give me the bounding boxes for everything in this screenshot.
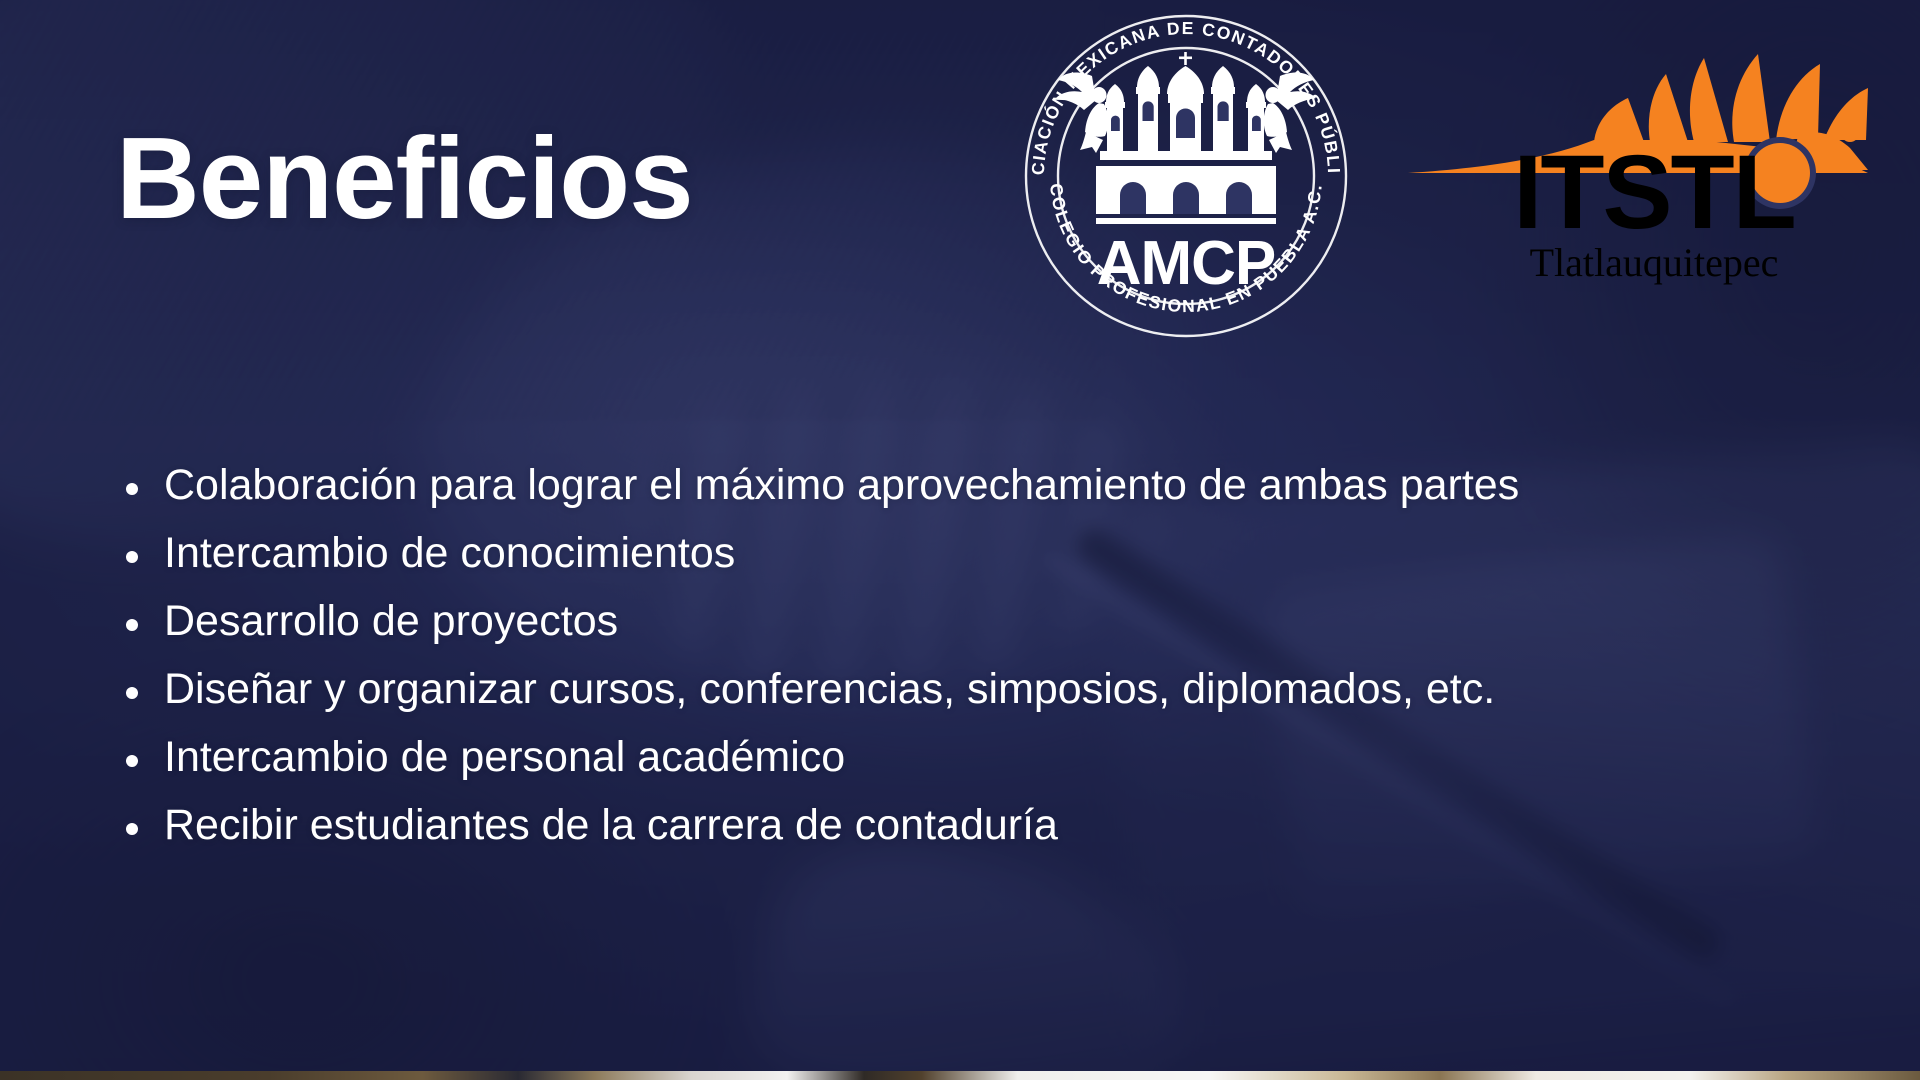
itstl-subtitle: Tlatlauquitepec	[1530, 240, 1779, 285]
bullet-item: Recibir estudiantes de la carrera de con…	[116, 792, 1656, 859]
amcp-acronym: AMCP	[1097, 229, 1276, 298]
amcp-logo: · ASOCIACIÓN MEXICANA DE CONTADORES PÚBL…	[1000, 0, 1372, 362]
itstl-eye-dot	[1841, 124, 1859, 142]
bullet-item: Intercambio de personal académico	[116, 724, 1656, 791]
bullet-item: Intercambio de conocimientos	[116, 520, 1656, 587]
benefits-bullet-list: Colaboración para lograr el máximo aprov…	[116, 452, 1656, 860]
presentation-slide: Beneficios Colaboración para lograr el m…	[0, 0, 1920, 1080]
bullet-item: Colaboración para lograr el máximo aprov…	[116, 452, 1656, 519]
itstl-nose-dot	[1833, 149, 1843, 159]
bullet-item: Diseñar y organizar cursos, conferencias…	[116, 656, 1656, 723]
bullet-item: Desarrollo de proyectos	[116, 588, 1656, 655]
itstl-logo: ITSTL Tlatlauquitepec	[1398, 18, 1910, 286]
photo-bottom-edge-strip	[0, 1071, 1920, 1080]
amcp-cathedral-emblem	[1056, 52, 1316, 224]
itstl-acronym: ITSTL	[1513, 134, 1795, 251]
slide-title: Beneficios	[116, 118, 693, 240]
